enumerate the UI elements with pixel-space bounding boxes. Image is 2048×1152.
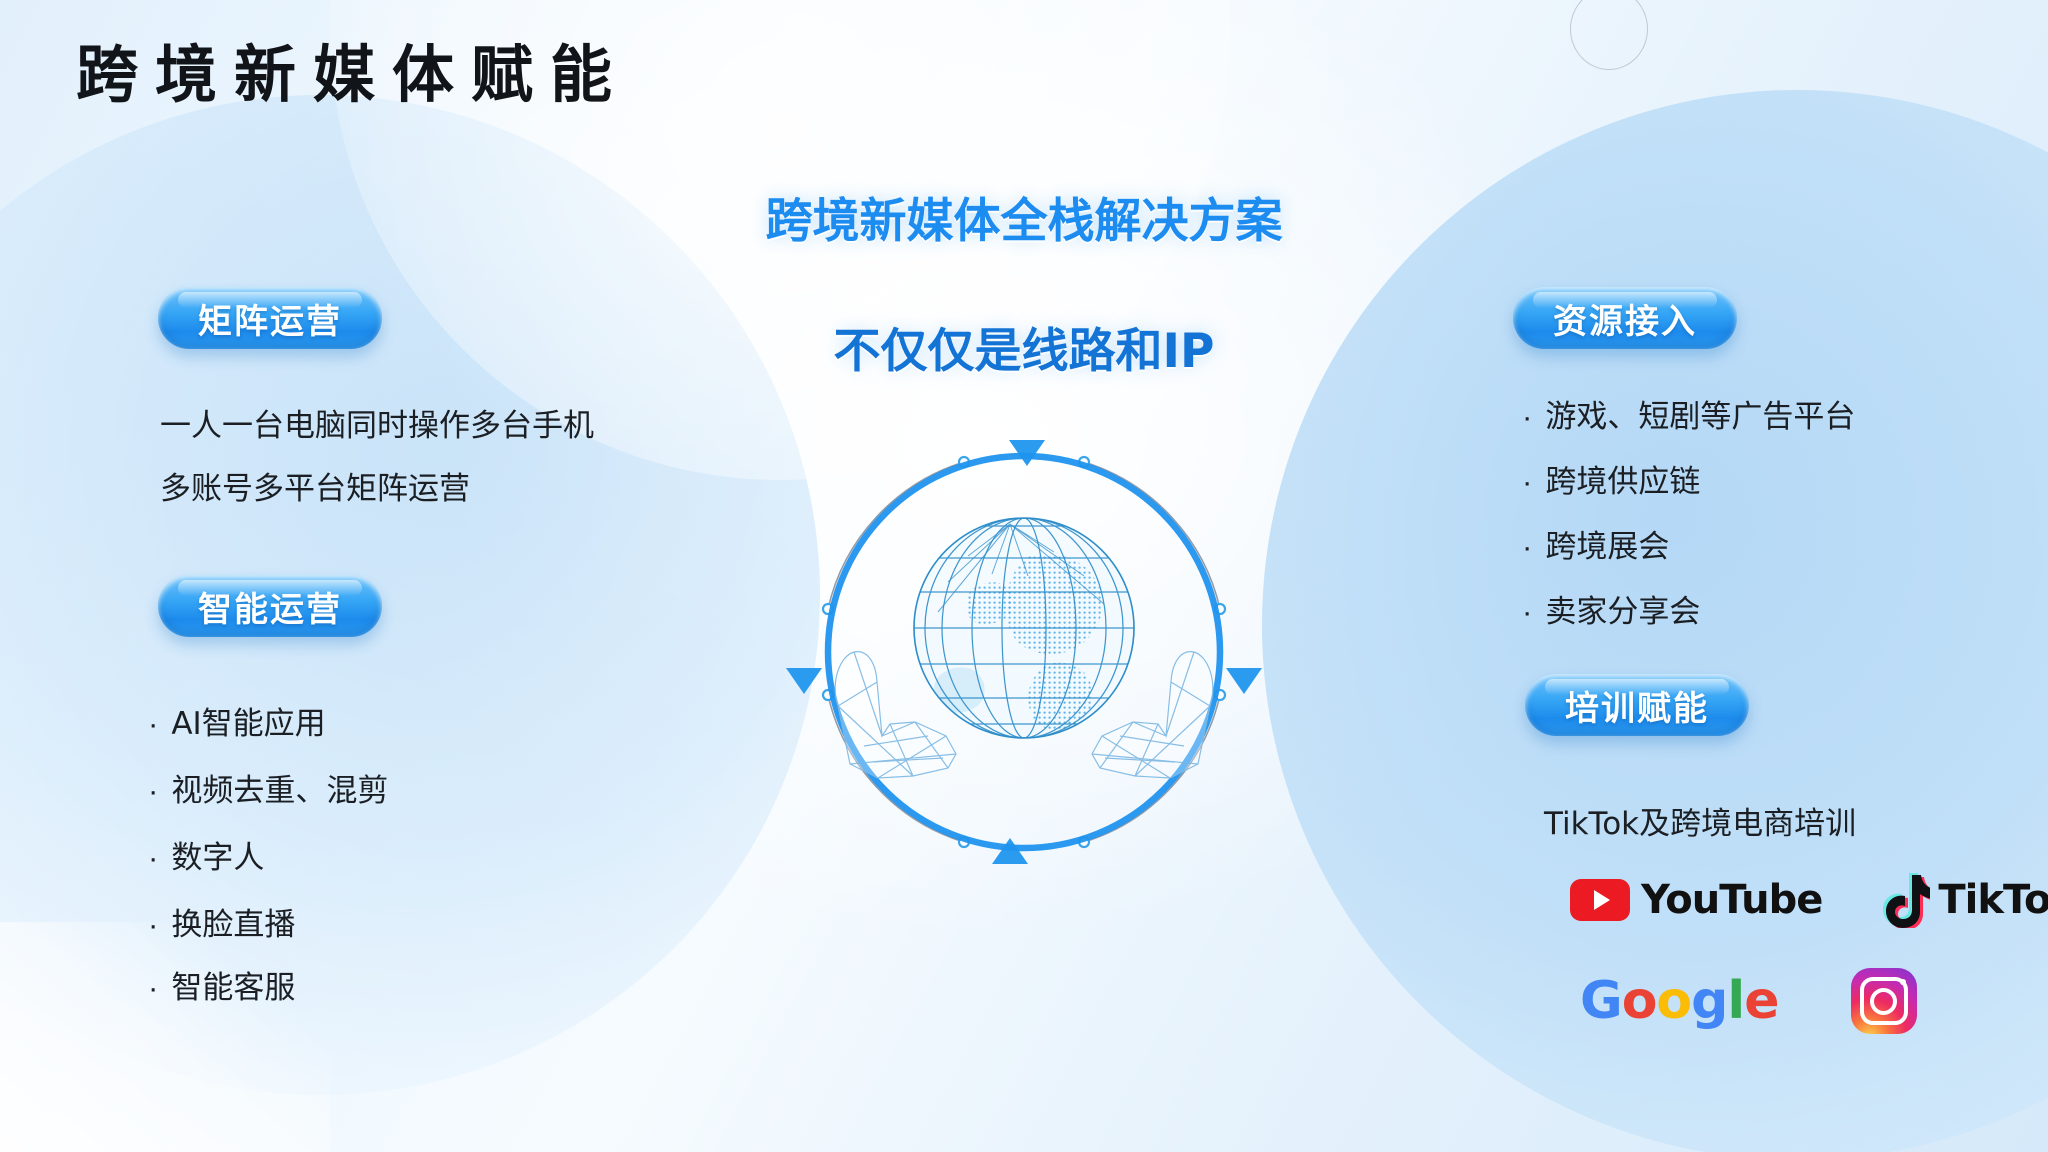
bullet-icon: ·	[148, 708, 158, 739]
instagram-flash-dot-icon	[1900, 979, 1906, 985]
google-letter: l	[1727, 971, 1744, 1031]
bullet-icon: ·	[148, 775, 158, 806]
slide-canvas: 跨境新媒体赋能 跨境新媒体全栈解决方案 不仅仅是线路和IP	[0, 0, 2048, 1152]
left-text-1: 一人一台电脑同时操作多台手机	[160, 400, 594, 445]
list-item: · 跨境展会	[1522, 521, 1669, 566]
badge-matrix-operations[interactable]: 矩阵运营	[158, 287, 382, 349]
bullet-icon: ·	[148, 972, 158, 1003]
page-title: 跨境新媒体赋能	[76, 42, 629, 107]
google-letter: e	[1744, 971, 1778, 1031]
list-item-label: 智能客服	[171, 962, 295, 1007]
google-logo[interactable]: Google	[1580, 975, 1779, 1027]
right-training-text: TikTok及跨境电商培训	[1544, 798, 1856, 843]
google-letter: o	[1656, 971, 1691, 1031]
list-item: · 数字人	[148, 832, 264, 877]
list-item-label: 跨境供应链	[1545, 456, 1700, 501]
google-letter: g	[1691, 971, 1727, 1031]
play-triangle-icon	[1594, 890, 1610, 910]
left-text-2: 多账号多平台矩阵运营	[160, 463, 470, 508]
youtube-play-icon	[1570, 879, 1630, 921]
circle-outline-decoration	[1570, 0, 1648, 70]
instagram-lens-icon	[1870, 988, 1897, 1015]
list-item-label: 游戏、短剧等广告平台	[1545, 391, 1855, 436]
bullet-icon: ·	[1522, 596, 1532, 627]
bullet-icon: ·	[1522, 466, 1532, 497]
list-item: · 卖家分享会	[1522, 586, 1700, 631]
list-item: · 智能客服	[148, 962, 295, 1007]
corner-light-fade	[0, 922, 330, 1152]
list-item: · 视频去重、混剪	[148, 765, 388, 810]
google-letter: G	[1580, 971, 1622, 1031]
bullet-icon: ·	[1522, 401, 1532, 432]
list-item: · 游戏、短剧等广告平台	[1522, 391, 1855, 436]
list-item: · 跨境供应链	[1522, 456, 1700, 501]
brand-logos-row-1: YouTube TikTok	[1570, 872, 2048, 928]
badge-smart-operations[interactable]: 智能运营	[158, 575, 382, 637]
tiktok-note-icon	[1878, 872, 1930, 928]
globe-illustration-svg	[778, 406, 1270, 898]
bullet-icon: ·	[148, 909, 158, 940]
tiktok-label: TikTok	[1938, 877, 2048, 923]
youtube-logo[interactable]: YouTube	[1570, 877, 1822, 923]
list-item-label: 视频去重、混剪	[171, 765, 388, 810]
center-heading-primary: 跨境新媒体全栈解决方案	[0, 182, 2048, 251]
globe-sphere	[914, 518, 1134, 738]
badge-training-empowerment[interactable]: 培训赋能	[1525, 674, 1749, 736]
list-item: · AI智能应用	[148, 698, 326, 743]
list-item-label: 跨境展会	[1545, 521, 1669, 566]
list-item-label: AI智能应用	[171, 698, 325, 743]
youtube-label: YouTube	[1641, 877, 1822, 923]
globe-illustration	[778, 406, 1270, 898]
list-item-label: 换脸直播	[171, 899, 295, 944]
google-letter: o	[1622, 971, 1657, 1031]
list-item-label: 数字人	[171, 832, 264, 877]
bullet-icon: ·	[1522, 531, 1532, 562]
instagram-logo[interactable]	[1851, 968, 1917, 1034]
bullet-icon: ·	[148, 842, 158, 873]
list-item-label: 卖家分享会	[1545, 586, 1700, 631]
list-item: · 换脸直播	[148, 899, 295, 944]
tiktok-logo[interactable]: TikTok	[1878, 872, 2048, 928]
badge-resource-access[interactable]: 资源接入	[1513, 287, 1737, 349]
brand-logos-row-2: Google	[1580, 968, 1917, 1034]
